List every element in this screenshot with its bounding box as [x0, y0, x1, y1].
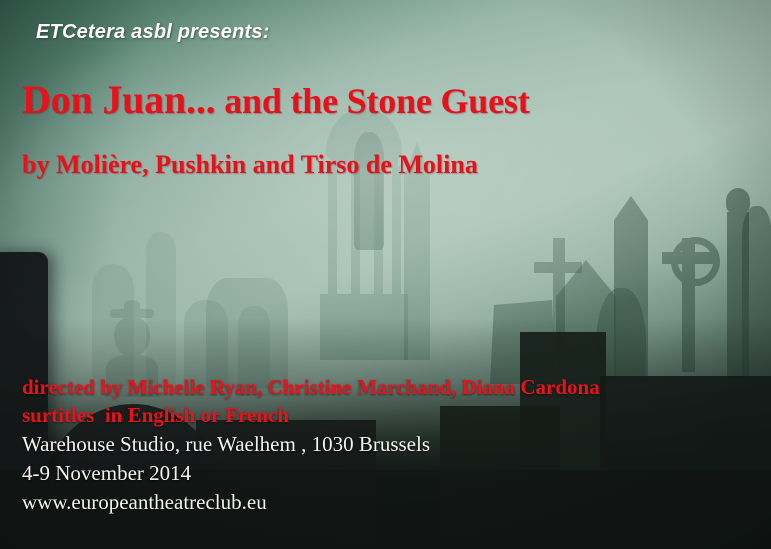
theatre-poster: ETCetera asbl presents: Don Juan... and …	[0, 0, 771, 549]
title-lead: Don Juan...	[22, 77, 215, 122]
poster-text-layer: ETCetera asbl presents: Don Juan... and …	[0, 0, 771, 549]
authors-line: by Molière, Pushkin and Tirso de Molina	[22, 150, 478, 180]
presenter-line: ETCetera asbl presents:	[36, 21, 270, 44]
poster-title: Don Juan... and the Stone Guest	[22, 76, 529, 123]
dates-line: 4-9 November 2014	[22, 461, 191, 486]
title-rest: and the Stone Guest	[215, 81, 529, 121]
directed-by-line: directed by Michelle Ryan, Christine Mar…	[22, 375, 600, 400]
surtitles-line: surtitles in English or French	[22, 403, 289, 428]
website-line: www.europeantheatreclub.eu	[22, 490, 267, 515]
venue-line: Warehouse Studio, rue Waelhem , 1030 Bru…	[22, 432, 430, 457]
